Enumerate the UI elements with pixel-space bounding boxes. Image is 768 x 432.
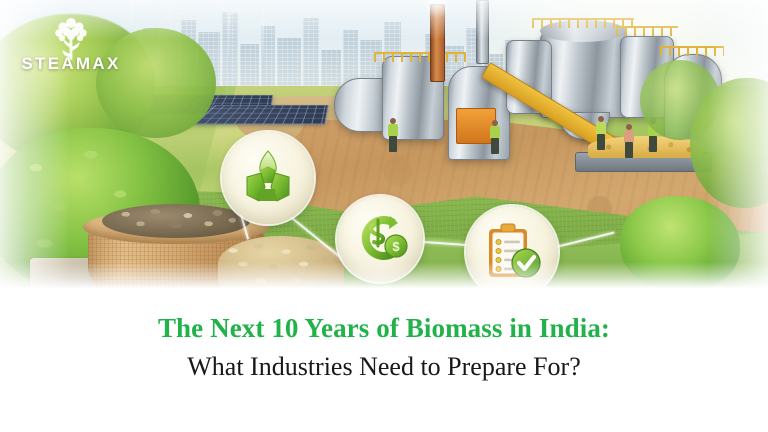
platform-railing: [374, 52, 466, 62]
solar-panel-array: [193, 105, 329, 125]
title-line-2: What Industries Need to Prepare For?: [187, 352, 580, 382]
title-block: The Next 10 Years of Biomass in India: W…: [0, 288, 768, 432]
blog-banner: $: [0, 0, 768, 432]
worker: [624, 124, 634, 158]
edge-fade-bottom: [0, 262, 768, 288]
logo-wordmark: STEAMAX: [16, 54, 126, 74]
title-line-1: The Next 10 Years of Biomass in India:: [158, 313, 610, 344]
worker: [596, 116, 606, 150]
svg-text:$: $: [392, 239, 400, 254]
brand-logo[interactable]: STEAMAX: [16, 14, 126, 76]
recycle-leaf-icon: [241, 149, 295, 207]
cost-savings-icon: $: [352, 212, 408, 266]
worker: [388, 118, 398, 152]
worker: [490, 120, 500, 154]
node-renewable[interactable]: [222, 132, 314, 224]
hero-image: $: [0, 0, 768, 288]
edge-fade-right: [708, 0, 768, 288]
